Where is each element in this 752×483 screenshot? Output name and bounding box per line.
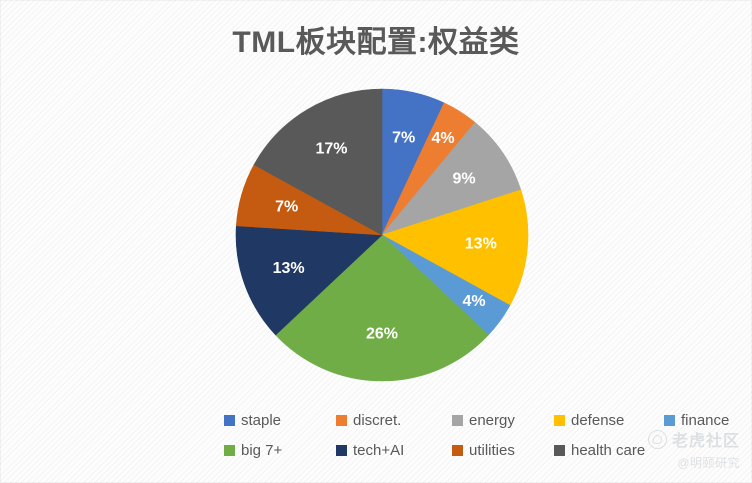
legend-color-swatch — [336, 445, 347, 456]
legend-item-finance[interactable]: finance — [664, 413, 729, 428]
slide-canvas: TML板块配置:权益类 7%4%9%13%4%26%13%7%17% stapl… — [0, 0, 752, 483]
legend-item-label: tech+AI — [353, 443, 404, 458]
page-title: TML板块配置:权益类 — [0, 17, 752, 61]
legend-item-label: defense — [571, 413, 624, 428]
legend-item-label: big 7+ — [241, 443, 282, 458]
pie-data-label: 7% — [392, 129, 415, 146]
pie-data-label: 26% — [366, 326, 398, 343]
legend-row: staplediscret.energydefensefinance — [112, 405, 652, 435]
pie-chart: 7%4%9%13%4%26%13%7%17% — [235, 88, 529, 382]
legend-item-label: finance — [681, 413, 729, 428]
legend-item-defense[interactable]: defense — [554, 413, 624, 428]
legend-color-swatch — [452, 445, 463, 456]
legend-color-swatch — [554, 445, 565, 456]
legend-color-swatch — [336, 415, 347, 426]
chart-legend: staplediscret.energydefensefinance big 7… — [112, 405, 652, 465]
legend-item-tech-ai[interactable]: tech+AI — [336, 443, 404, 458]
pie-data-label: 4% — [431, 130, 454, 147]
legend-item-health-care[interactable]: health care — [554, 443, 645, 458]
pie-data-label: 4% — [463, 293, 486, 310]
legend-item-label: utilities — [469, 443, 515, 458]
legend-item-label: energy — [469, 413, 515, 428]
watermark-name: 老虎社区 — [672, 427, 740, 451]
legend-item-big-7-[interactable]: big 7+ — [224, 443, 282, 458]
pie-data-label: 17% — [315, 141, 347, 158]
legend-item-label: discret. — [353, 413, 401, 428]
pie-data-label: 7% — [275, 199, 298, 216]
pie-chart-svg: 7%4%9%13%4%26%13%7%17% — [235, 88, 529, 382]
legend-item-label: staple — [241, 413, 281, 428]
pie-data-label: 13% — [465, 236, 497, 253]
pie-data-label: 13% — [273, 260, 305, 277]
pie-data-label: 9% — [453, 170, 476, 187]
legend-item-label: health care — [571, 443, 645, 458]
legend-row: big 7+tech+AIutilitieshealth care — [112, 435, 652, 465]
legend-item-staple[interactable]: staple — [224, 413, 281, 428]
legend-item-energy[interactable]: energy — [452, 413, 515, 428]
legend-item-discret-[interactable]: discret. — [336, 413, 401, 428]
legend-color-swatch — [224, 445, 235, 456]
legend-color-swatch — [554, 415, 565, 426]
legend-color-swatch — [224, 415, 235, 426]
legend-item-utilities[interactable]: utilities — [452, 443, 515, 458]
legend-color-swatch — [452, 415, 463, 426]
legend-color-swatch — [664, 415, 675, 426]
